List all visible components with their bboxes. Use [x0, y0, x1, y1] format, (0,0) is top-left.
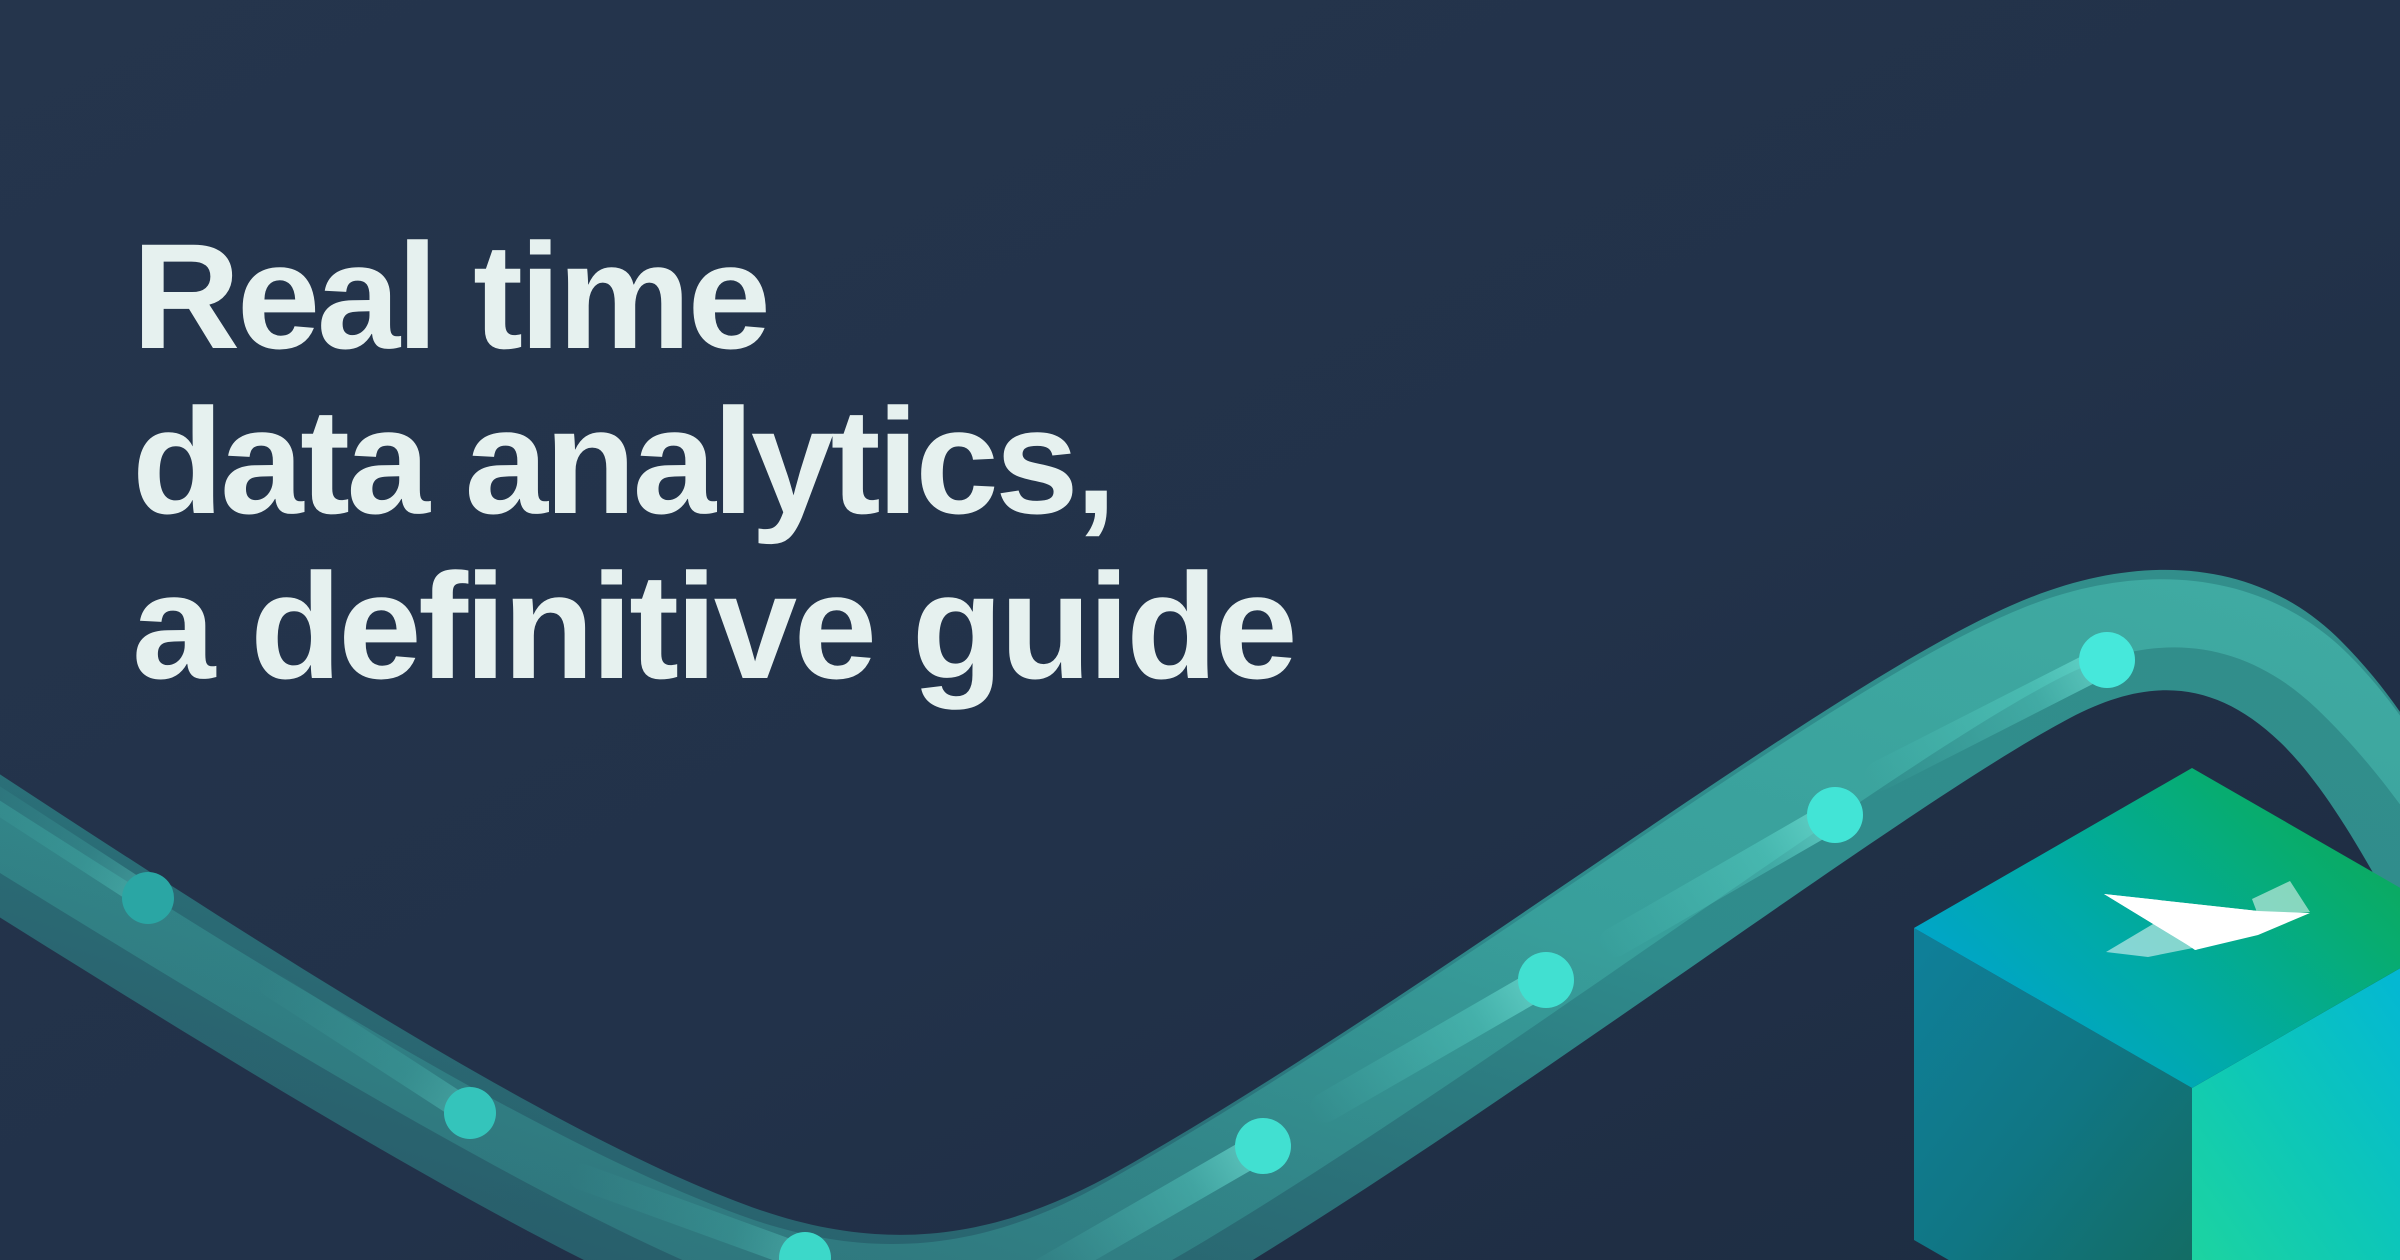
headline-line-1: Real time	[132, 219, 1632, 374]
page-title: Real time data analytics, a definitive g…	[132, 219, 1632, 704]
data-dot	[1518, 952, 1574, 1008]
data-dot	[444, 1087, 496, 1139]
data-dot	[1235, 1118, 1291, 1174]
data-dot	[1807, 787, 1863, 843]
headline-line-2: data analytics,	[132, 384, 1632, 539]
data-dot	[2079, 632, 2135, 688]
data-dot	[122, 872, 174, 924]
hero-banner: Real time data analytics, a definitive g…	[0, 0, 2400, 1260]
headline-line-3: a definitive guide	[132, 549, 1632, 704]
